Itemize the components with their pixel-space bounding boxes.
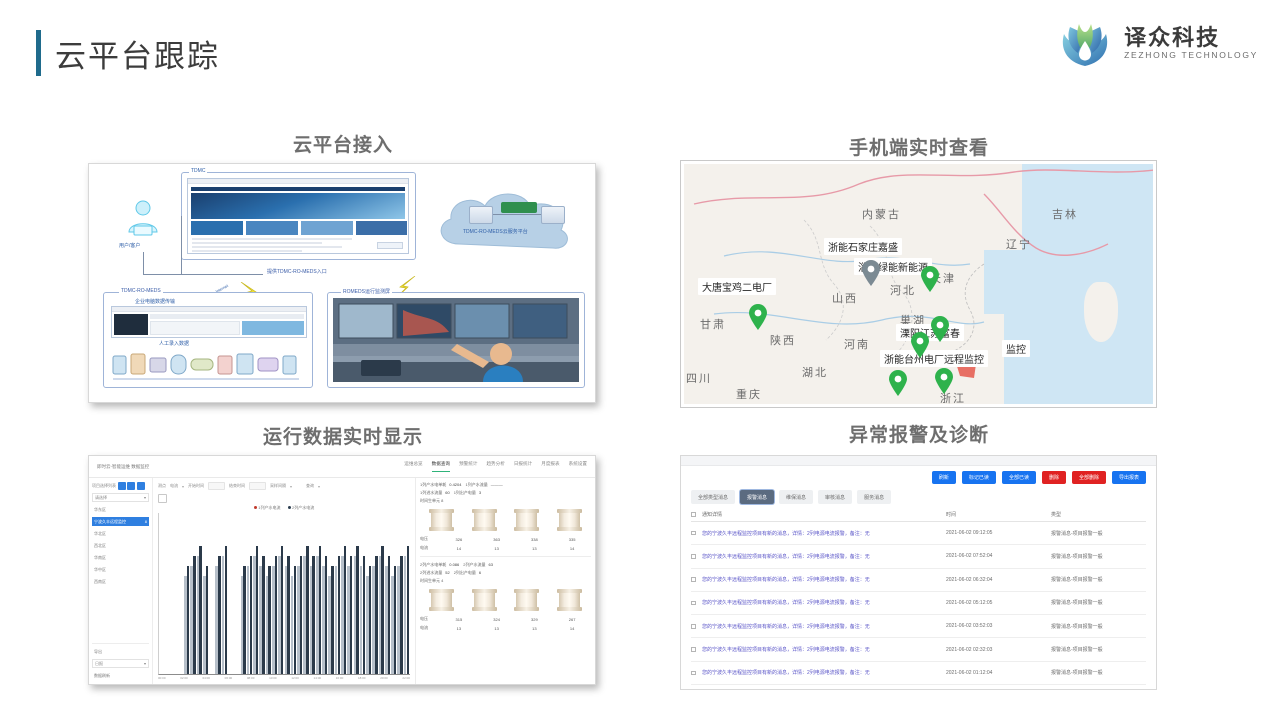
cloud-architecture-diagram: TDMC	[89, 164, 595, 402]
query-button[interactable]: 查询	[306, 483, 314, 489]
section-heading-cloud-access: 云平台接入	[88, 130, 598, 157]
export-report-button[interactable]: 导出报表	[1112, 471, 1146, 484]
metric-5: 2列产水流量63	[463, 562, 493, 568]
metric-0: 1列产水电单耗0.4204	[420, 482, 461, 488]
metric-value: 52	[445, 570, 449, 576]
chart-spike	[199, 546, 201, 674]
row-checkbox-cell[interactable]	[691, 531, 702, 536]
chart-spike	[319, 546, 321, 674]
chart-spike	[300, 556, 302, 674]
row-checkbox-cell[interactable]	[691, 647, 702, 652]
spool-icon	[559, 589, 580, 611]
row-time: 2021-06-02 02:32:03	[946, 647, 1051, 653]
chart-spike	[381, 546, 383, 674]
sidebar-expand-icon[interactable]	[118, 482, 126, 490]
metric-label: 1列产水电单耗	[420, 482, 446, 488]
equipment-icons-row	[109, 348, 309, 386]
tree-label: 华中区	[94, 567, 106, 573]
row-detail[interactable]: 您的宁波久丰远程监控项目有新的消息，详情：2列电源电流报警，备注：无	[702, 646, 946, 653]
current-row-2: 电流 13 13 13 14	[420, 625, 591, 631]
chart-spike	[388, 556, 390, 674]
xtick: 18:00	[358, 676, 366, 680]
row-detail[interactable]: 您的宁波久丰远程监控项目有新的消息，详情：2列电源电流报警，备注：无	[702, 599, 946, 606]
current-value: 13	[478, 626, 516, 631]
row-type: 报警消息-项目报警一般	[1051, 646, 1146, 653]
checkbox-icon[interactable]	[691, 577, 696, 582]
table-row[interactable]: 您的宁波久丰远程监控项目有新的消息，详情：2列电源电流报警，备注：无 2021-…	[691, 592, 1146, 615]
sidebar-footer: 导出 日报 ▾ 数据刷新	[92, 643, 149, 680]
nav-item-1[interactable]: 数据查询	[432, 461, 450, 472]
voltage-label: 电压	[420, 616, 440, 622]
province-label: 辽宁	[1006, 236, 1032, 252]
sidebar-title-row: 项目选择列表	[92, 482, 149, 490]
spool-icon	[516, 589, 537, 611]
alarm-message-center: 刷新 标记已读 全部已读 删除 全部删除 导出报表 全部类型消息 报警消息 维保…	[681, 456, 1156, 689]
title-accent-bar	[36, 30, 41, 76]
chevron-down-icon: ▾	[144, 495, 146, 500]
metric-label: 1列出产电量	[454, 490, 476, 496]
metrics-row: 2列进水流量52 2列出产电量6	[420, 570, 591, 576]
refresh-button[interactable]: 刷新	[932, 471, 956, 484]
checkbox-icon[interactable]	[691, 554, 696, 559]
map-site-label[interactable]: 浙能台州电厂远程监控	[880, 350, 988, 367]
voltage-value: 326	[440, 537, 478, 542]
chart-spike	[325, 556, 327, 674]
logo-name-cn: 译众科技	[1124, 25, 1258, 50]
xtick: 10:00	[269, 676, 277, 680]
realtime-data-panel: 即时云-智能运维 数据监控 运维总览 数据查询 预警统计 趋势分析 日报统计 月…	[88, 455, 596, 685]
entry-label: 提供TDMC-RO-MEDS入口	[267, 268, 327, 275]
xtick: 12:00	[291, 676, 299, 680]
legend-label: 1列产水电流	[258, 505, 280, 510]
chevron-down-icon: ▾	[144, 661, 146, 666]
connector-line	[181, 216, 182, 274]
chart-toolbar	[158, 494, 410, 503]
company-logo: 译众科技 ZEZHONG TECHNOLOGY	[1056, 14, 1258, 72]
dashboard-header: 即时云-智能运维 数据监控 运维总览 数据查询 预警统计 趋势分析 日报统计 月…	[89, 456, 595, 478]
chart-spike	[363, 556, 365, 674]
lotus-droplet-icon	[1056, 14, 1114, 72]
metric-label: 2列产水流量	[463, 562, 485, 568]
chart-spike	[306, 546, 308, 674]
table-row[interactable]: 您的宁波久丰远程监控项目有新的消息，详情：2列电源电流报警，备注：无 2021-…	[691, 615, 1146, 638]
mark-all-read-button[interactable]: 全部已读	[1002, 471, 1036, 484]
nav-item-3[interactable]: 趋势分析	[486, 461, 504, 472]
table-row[interactable]: 您的宁波久丰远程监控项目有新的消息，详情：2列电源电流报警，备注：无 2021-…	[691, 662, 1146, 685]
legend-label: 2列产水电流	[292, 505, 314, 510]
province-label: 陕西	[770, 332, 796, 348]
metric-3: 1列出产电量3	[454, 490, 481, 496]
tree-item-4[interactable]: 华南区	[92, 553, 149, 562]
metric-value: 60	[445, 490, 449, 496]
chart-legend: 1列产水电流 2列产水电流	[158, 505, 410, 511]
chart-spike	[187, 566, 189, 674]
checkbox-icon[interactable]	[691, 647, 696, 652]
chart-spike	[275, 556, 277, 674]
tab-alarm-messages[interactable]: 报警消息	[740, 490, 774, 504]
enterprise-label: 企业电脑数据传输	[135, 298, 175, 305]
chart-spike	[394, 566, 396, 674]
cloud-badge	[501, 202, 537, 213]
current-label: 电流	[420, 625, 440, 631]
chart-spike	[344, 546, 346, 674]
xtick: 20:00	[380, 676, 388, 680]
chevron-down-icon: ▾	[318, 484, 320, 489]
xtick: 16:00	[336, 676, 344, 680]
metric-value: 0.086	[449, 562, 459, 568]
metric-label: 2列进水流量	[420, 570, 442, 576]
end-date-input[interactable]	[249, 482, 266, 490]
chart-spike	[250, 556, 252, 674]
voltage-row-1: 电压 326 363 338 335	[420, 536, 591, 542]
chart-spike	[400, 556, 402, 674]
province-label: 吉林	[1052, 206, 1078, 222]
sidebar-refresh-icon[interactable]	[137, 482, 145, 490]
alarm-table: 通知详情 时间 类型 您的宁波久丰远程监控项目有新的消息，详情：2列电源电流报警…	[681, 508, 1156, 689]
province-label: 内蒙古	[862, 206, 901, 222]
map-pin-green[interactable]	[888, 370, 908, 396]
tree-label: 华东区	[94, 507, 106, 513]
map-pin-green[interactable]	[748, 304, 768, 330]
page-title-group: 云平台跟踪	[36, 30, 220, 76]
logo-name-en: ZEZHONG TECHNOLOGY	[1124, 50, 1258, 61]
voltage-value: 315	[440, 617, 478, 622]
row-type: 报警消息-项目报警一般	[1051, 553, 1146, 560]
voltage-label: 电压	[420, 536, 440, 542]
province-label: 山西	[832, 290, 858, 306]
metric-label: 1列产水流量	[465, 482, 487, 488]
connector-line	[493, 214, 541, 215]
checkbox-icon[interactable]	[691, 624, 696, 629]
table-row[interactable]: 您的宁波久丰远程监控项目有新的消息，详情：2列电源电流报警，备注：无 2021-…	[691, 522, 1146, 545]
map-site-label[interactable]: 浙能石家庄嘉盛	[824, 238, 902, 255]
row-type: 报警消息-项目报警一般	[1051, 623, 1146, 630]
nav-item-5[interactable]: 月度报表	[541, 461, 559, 472]
spool-icon	[559, 509, 580, 531]
tree-item-0[interactable]: 华东区	[92, 505, 149, 514]
row-detail[interactable]: 您的宁波久丰远程监控项目有新的消息，详情：2列电源电流报警，备注：无	[702, 623, 946, 630]
province-label: 湖北	[802, 364, 828, 380]
chart-spike	[294, 566, 296, 674]
user-label: 用户/客户	[119, 242, 140, 249]
tree-item-1[interactable]: 宁波久丰远程监控8	[92, 517, 149, 526]
current-value: 14	[553, 626, 591, 631]
alarm-action-buttons: 刷新 标记已读 全部已读 删除 全部删除 导出报表	[681, 466, 1156, 488]
server-icon	[469, 206, 493, 224]
tab-service-messages[interactable]: 服务消息	[857, 490, 891, 504]
nav-item-4[interactable]: 日报统计	[514, 461, 532, 472]
row-checkbox-cell[interactable]	[691, 577, 702, 582]
map-pin-green[interactable]	[930, 316, 950, 342]
project-select-value: 请选择	[95, 495, 107, 501]
server-icon	[541, 206, 565, 224]
sidebar-report-value: 日报	[95, 661, 103, 667]
map-site-label[interactable]: 大唐宝鸡二电厂	[698, 278, 776, 295]
row-time: 2021-06-02 06:32:04	[946, 577, 1051, 583]
portal-browser-mock	[187, 178, 409, 254]
spool-icon	[431, 509, 452, 531]
chart-section: 测点 电流 ▾ 开始时间 结束时间 采样间隔 ▾ 查询 ▾	[153, 478, 415, 684]
row-detail[interactable]: 您的宁波久丰远程监控项目有新的消息，详情：2列电源电流报警，备注：无	[702, 669, 946, 676]
dashboard-sidebar: 项目选择列表 请选择 ▾ 华东区 宁波久丰远程监控8 华北区 西北区 华南区 华…	[89, 478, 153, 684]
row-checkbox-cell[interactable]	[691, 624, 702, 629]
spool-group-2	[420, 589, 591, 611]
voltage-value: 267	[553, 617, 591, 622]
chart-spike	[375, 556, 377, 674]
chart-spike	[206, 566, 208, 674]
nav-item-2[interactable]: 预警统计	[459, 461, 477, 472]
spool-icon	[474, 509, 495, 531]
mark-read-button[interactable]: 标记已读	[962, 471, 996, 484]
alarm-topbar	[681, 456, 1156, 466]
interval-filter-label: 采样间隔	[270, 483, 286, 489]
spool-icon	[431, 589, 452, 611]
checkbox-icon[interactable]	[691, 531, 696, 536]
xtick: 22:00	[402, 676, 410, 680]
table-row[interactable]: 您的宁波久丰远程监控项目有新的消息，详情：2列电源电流报警，备注：无 2021-…	[691, 638, 1146, 661]
row-type: 报警消息-项目报警一般	[1051, 669, 1146, 676]
chart-spike	[407, 546, 409, 674]
group1-note: 时间生单元 8	[420, 498, 591, 504]
current-value: 13	[478, 546, 516, 551]
chart-spike	[338, 556, 340, 674]
row-time: 2021-06-02 03:52:03	[946, 623, 1051, 629]
current-label: 电流	[420, 545, 440, 551]
chart-spike	[287, 556, 289, 674]
control-room-photo	[333, 298, 579, 382]
select-all-cell[interactable]	[691, 512, 702, 517]
group-note-label: 时间生单元 4	[420, 578, 443, 584]
row-checkbox-cell[interactable]	[691, 671, 702, 676]
metric-value: 0.4204	[449, 482, 461, 488]
current-value: 13	[440, 626, 478, 631]
voltage-value: 335	[553, 537, 591, 542]
checkbox-icon[interactable]	[691, 601, 696, 606]
divider	[420, 556, 591, 557]
chart-spike	[193, 556, 195, 674]
metrics-row: 2列产水电单耗0.086 2列产水流量63	[420, 562, 591, 568]
section-heading-mobile-view: 手机端实时查看	[680, 133, 1158, 160]
metric-6: 2列进水流量52	[420, 570, 450, 576]
chart-spike	[312, 556, 314, 674]
province-label: 重庆	[736, 386, 762, 402]
metric-2: 1列进水流量60	[420, 490, 450, 496]
chart-spike	[281, 546, 283, 674]
voltage-value: 324	[478, 617, 516, 622]
tree-label: 西北区	[94, 543, 106, 549]
sidebar-report-select[interactable]: 日报 ▾	[92, 659, 149, 668]
sidebar-label: 项目选择列表	[92, 483, 116, 489]
voltage-value: 329	[516, 617, 554, 622]
province-label: 河北	[890, 282, 916, 298]
sidebar-refresh-label: 数据刷新	[94, 673, 110, 679]
data-dashboard: 即时云-智能运维 数据监控 运维总览 数据查询 预警统计 趋势分析 日报统计 月…	[89, 456, 595, 684]
connector-line	[143, 274, 263, 275]
map-pin-green[interactable]	[934, 368, 954, 394]
project-select[interactable]: 请选择 ▾	[92, 493, 149, 502]
xtick: 08:00	[247, 676, 255, 680]
map-site-label[interactable]: 监控	[1002, 340, 1030, 357]
end-filter-label: 结束时间	[229, 483, 245, 489]
legend-marker	[254, 506, 257, 509]
legend-entry-1[interactable]: 2列产水电流	[288, 505, 315, 511]
chart-spike	[225, 546, 227, 674]
metrics-row: 1列进水流量60 1列出产电量3	[420, 490, 591, 496]
map-pin-gray[interactable]	[861, 260, 881, 286]
delete-all-button[interactable]: 全部删除	[1072, 471, 1106, 484]
row-type: 报警消息-项目报警一般	[1051, 530, 1146, 537]
column-header-type: 类型	[1051, 511, 1146, 518]
table-row[interactable]: 您的宁波久丰远程监控项目有新的消息，详情：2列电源电流报警，备注：无 2021-…	[691, 545, 1146, 568]
checkbox-icon[interactable]	[691, 671, 696, 676]
metric-1: 1列产水流量———	[465, 482, 502, 488]
tab-all-messages[interactable]: 全部类型消息	[691, 490, 735, 504]
start-filter-label: 开始时间	[188, 483, 204, 489]
cloud-architecture-panel: TDMC	[88, 163, 596, 403]
chart-spike	[356, 546, 358, 674]
row-time: 2021-06-02 07:52:04	[946, 553, 1051, 559]
system-name-label: TDMC-RO-MEDS	[119, 288, 163, 294]
xtick: 00:00	[158, 676, 166, 680]
voltage-value: 338	[516, 537, 554, 542]
tree-item-6[interactable]: 华中区	[92, 565, 149, 574]
nav-item-6[interactable]: 系统设置	[569, 461, 587, 472]
chart-spike	[262, 556, 264, 674]
chart-spike	[331, 566, 333, 674]
chevron-down-icon: ▾	[290, 484, 292, 489]
monitor-label: ROMEDS运行监测屏	[341, 288, 392, 295]
group-note-label: 时间生单元 8	[420, 498, 443, 504]
spool-icon	[474, 589, 495, 611]
row-type: 报警消息-项目报警一般	[1051, 599, 1146, 606]
line-chart[interactable]	[158, 513, 410, 675]
metric-value: ———	[491, 482, 503, 488]
portal-label: TDMC	[189, 168, 207, 174]
metric-label: 2列产水电单耗	[420, 562, 446, 568]
voltage-value: 363	[478, 537, 516, 542]
manual-entry-label: 人工录入数据	[159, 340, 189, 347]
logo-text: 译众科技 ZEZHONG TECHNOLOGY	[1124, 25, 1258, 61]
mobile-map-panel: 内蒙古 吉林 辽宁 河北 山西 山东 甘肃 陕西 河南 湖北 重庆 四川 巢湖 …	[680, 160, 1157, 408]
voltage-row-2: 电压 315 324 329 267	[420, 616, 591, 622]
metric-4: 2列产水电单耗0.086	[420, 562, 459, 568]
row-detail[interactable]: 您的宁波久丰远程监控项目有新的消息，详情：2列电源电流报警，备注：无	[702, 576, 946, 583]
tab-maintenance-messages[interactable]: 维保消息	[779, 490, 813, 504]
group2-note: 时间生单元 4	[420, 578, 591, 584]
china-map[interactable]: 内蒙古 吉林 辽宁 河北 山西 山东 甘肃 陕西 河南 湖北 重庆 四川 巢湖 …	[684, 164, 1153, 404]
xtick: 06:00	[225, 676, 233, 680]
tree-item-2[interactable]: 华北区	[92, 529, 149, 538]
current-value: 13	[516, 546, 554, 551]
section-heading-alarm-diagnosis: 异常报警及诊断	[680, 420, 1158, 447]
province-label: 四川	[686, 370, 712, 386]
metric-value: 6	[479, 570, 481, 576]
metric-value: 3	[479, 490, 481, 496]
chart-spike	[256, 546, 258, 674]
tab-audit-messages[interactable]: 审核消息	[818, 490, 852, 504]
dashboard-nav[interactable]: 运维总览 数据查询 预警统计 趋势分析 日报统计 月度报表 系统设置	[404, 461, 587, 472]
page-title: 云平台跟踪	[55, 31, 220, 76]
metric-7: 2列出产电量6	[454, 570, 481, 576]
chart-spike	[268, 566, 270, 674]
row-detail[interactable]: 您的宁波久丰远程监控项目有新的消息，详情：2列电源电流报警，备注：无	[702, 553, 946, 560]
dashboard-body: 项目选择列表 请选择 ▾ 华东区 宁波久丰远程监控8 华北区 西北区 华南区 华…	[89, 478, 595, 684]
alarm-panel: 刷新 标记已读 全部已读 删除 全部删除 导出报表 全部类型消息 报警消息 维保…	[680, 455, 1157, 690]
metrics-row: 1列产水电单耗0.4204 1列产水流量———	[420, 482, 591, 488]
row-checkbox-cell[interactable]	[691, 601, 702, 606]
province-label: 甘肃	[700, 316, 726, 332]
metrics-section: 1列产水电单耗0.4204 1列产水流量——— 1列进水流量60 1列出产电量3…	[415, 478, 595, 684]
tree-label: 宁波久丰远程监控	[94, 519, 126, 525]
point-filter-value[interactable]: 电流	[170, 483, 178, 489]
tree-count: 8	[145, 519, 147, 525]
metric-value: 63	[488, 562, 492, 568]
chart-filter-bar: 测点 电流 ▾ 开始时间 结束时间 采样间隔 ▾ 查询 ▾	[158, 482, 410, 490]
connector-line	[143, 252, 144, 274]
row-checkbox-cell[interactable]	[691, 554, 702, 559]
sidebar-export-label: 导出	[94, 649, 102, 655]
user-icon	[121, 196, 165, 245]
map-pin-green[interactable]	[920, 266, 940, 292]
section-heading-realtime-data: 运行数据实时显示	[88, 422, 598, 449]
column-header-detail: 通知详情	[702, 511, 946, 518]
row-time: 2021-06-02 01:12:04	[946, 670, 1051, 676]
row-detail[interactable]: 您的宁波久丰远程监控项目有新的消息，详情：2列电源电流报警，备注：无	[702, 530, 946, 537]
province-label: 河南	[844, 336, 870, 352]
xtick: 14:00	[314, 676, 322, 680]
checkbox-icon[interactable]	[691, 512, 696, 517]
spool-group-1	[420, 509, 591, 531]
dashboard-brand: 即时云-智能运维 数据监控	[97, 464, 149, 470]
tree-label: 华南区	[94, 555, 106, 561]
chevron-down-icon: ▾	[182, 484, 184, 489]
enterprise-screen-mock	[111, 306, 307, 338]
play-icon[interactable]	[158, 494, 167, 503]
map-pin-green[interactable]	[910, 332, 930, 358]
chart-x-axis: 00:00 02:00 04:00 06:00 08:00 10:00 12:0…	[158, 675, 410, 680]
chart-spike	[369, 566, 371, 674]
current-row-1: 电流 14 13 13 14	[420, 545, 591, 551]
sidebar-collapse-icon[interactable]	[127, 482, 135, 490]
slide-root: 云平台跟踪	[0, 0, 1280, 720]
table-row[interactable]: 您的宁波久丰远程监控项目有新的消息，详情：2列电源电流报警，备注：无 2021-…	[691, 569, 1146, 592]
current-value: 14	[553, 546, 591, 551]
metric-label: 1列进水流量	[420, 490, 442, 496]
chart-spike	[218, 556, 220, 674]
table-header-row: 通知详情 时间 类型	[691, 508, 1146, 522]
sidebar-export-button[interactable]: 导出	[92, 647, 149, 656]
point-filter-label: 测点	[158, 483, 166, 489]
row-type: 报警消息-项目报警一般	[1051, 576, 1146, 583]
cloud-platform-label: TDMC-RO-MEDS云服务平台	[463, 228, 528, 235]
sidebar-refresh-note[interactable]: 数据刷新	[92, 671, 149, 680]
tree-label: 华北区	[94, 531, 106, 537]
current-value: 14	[440, 546, 478, 551]
tree-label: 西南区	[94, 579, 106, 585]
tree-item-7[interactable]: 西南区	[92, 577, 149, 586]
legend-marker	[288, 506, 291, 509]
start-date-input[interactable]	[208, 482, 225, 490]
metric-label: 2列出产电量	[454, 570, 476, 576]
delete-button[interactable]: 删除	[1042, 471, 1066, 484]
alarm-tabs: 全部类型消息 报警消息 维保消息 审核消息 服务消息	[681, 488, 1156, 508]
nav-item-0[interactable]: 运维总览	[404, 461, 422, 472]
row-time: 2021-06-02 05:12:05	[946, 600, 1051, 606]
legend-entry-0[interactable]: 1列产水电流	[254, 505, 281, 511]
tree-item-3[interactable]: 西北区	[92, 541, 149, 550]
chart-spike	[350, 556, 352, 674]
xtick: 04:00	[202, 676, 210, 680]
